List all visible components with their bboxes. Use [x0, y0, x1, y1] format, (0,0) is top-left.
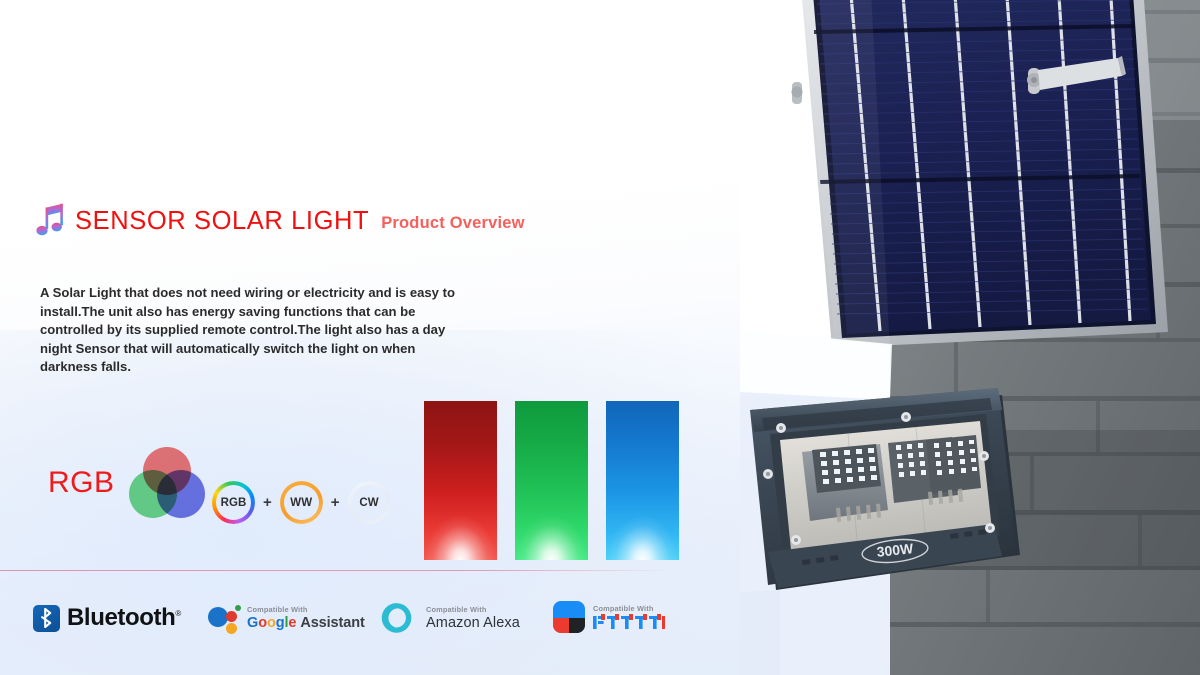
music-note-icon: [36, 203, 66, 239]
chip-cw-label: CW: [359, 497, 378, 509]
rgb-venn-diagram: [129, 447, 205, 519]
product-description: A Solar Light that does not need wiring …: [40, 284, 472, 377]
plus-separator-2: +: [330, 494, 341, 511]
bluetooth-logo: Bluetooth®: [33, 604, 181, 632]
led-flood-light: 300W: [750, 388, 1020, 590]
google-assistant-logo: Compatible With Google Assistant: [208, 603, 365, 633]
ifttt-icon: [553, 601, 585, 633]
chip-ww: WW: [280, 481, 323, 524]
google-assistant-icon: [208, 603, 238, 633]
rgb-label: RGB: [48, 466, 115, 500]
page-heading: SENSOR SOLAR LIGHT Product Overview: [36, 203, 525, 239]
google-assistant-wordmark: Google Assistant: [247, 615, 365, 632]
chip-cw: CW: [348, 481, 391, 524]
ifttt-wordmark: [593, 614, 669, 631]
red-light-swatch: [424, 401, 497, 560]
rgb-feature-block: RGB: [48, 447, 205, 519]
plus-separator-1: +: [262, 494, 273, 511]
alexa-icon: [380, 600, 416, 636]
blue-circle: [157, 470, 205, 518]
product-overview-page: 300W: [0, 0, 1200, 675]
chip-rgb-label: RGB: [221, 497, 247, 509]
blue-light-swatch: [606, 401, 679, 560]
amazon-alexa-logo: Compatible With Amazon Alexa: [380, 600, 520, 636]
bluetooth-icon: [33, 605, 60, 632]
registered-mark: ®: [175, 609, 181, 618]
bluetooth-wordmark: Bluetooth®: [67, 604, 181, 632]
color-mode-row: RGB + WW + CW: [212, 481, 391, 524]
amazon-alexa-wordmark: Amazon Alexa: [426, 615, 520, 632]
page-subtitle: Product Overview: [381, 214, 525, 233]
page-title: SENSOR SOLAR LIGHT: [75, 207, 369, 236]
ifttt-logo: Compatible With: [553, 601, 669, 633]
light-color-swatches: [424, 401, 679, 560]
ifttt-compatible-label: Compatible With: [593, 604, 669, 613]
chip-ww-label: WW: [290, 497, 312, 509]
solar-panel: [792, 0, 1169, 350]
section-divider: [0, 570, 672, 571]
product-photo: 300W: [740, 0, 1200, 675]
alexa-compatible-label: Compatible With: [426, 605, 520, 614]
chip-rgb: RGB: [212, 481, 255, 524]
google-compatible-label: Compatible With: [247, 605, 365, 614]
green-light-swatch: [515, 401, 588, 560]
compatibility-logos: Bluetooth® Compatible With Google Assist…: [0, 598, 700, 650]
